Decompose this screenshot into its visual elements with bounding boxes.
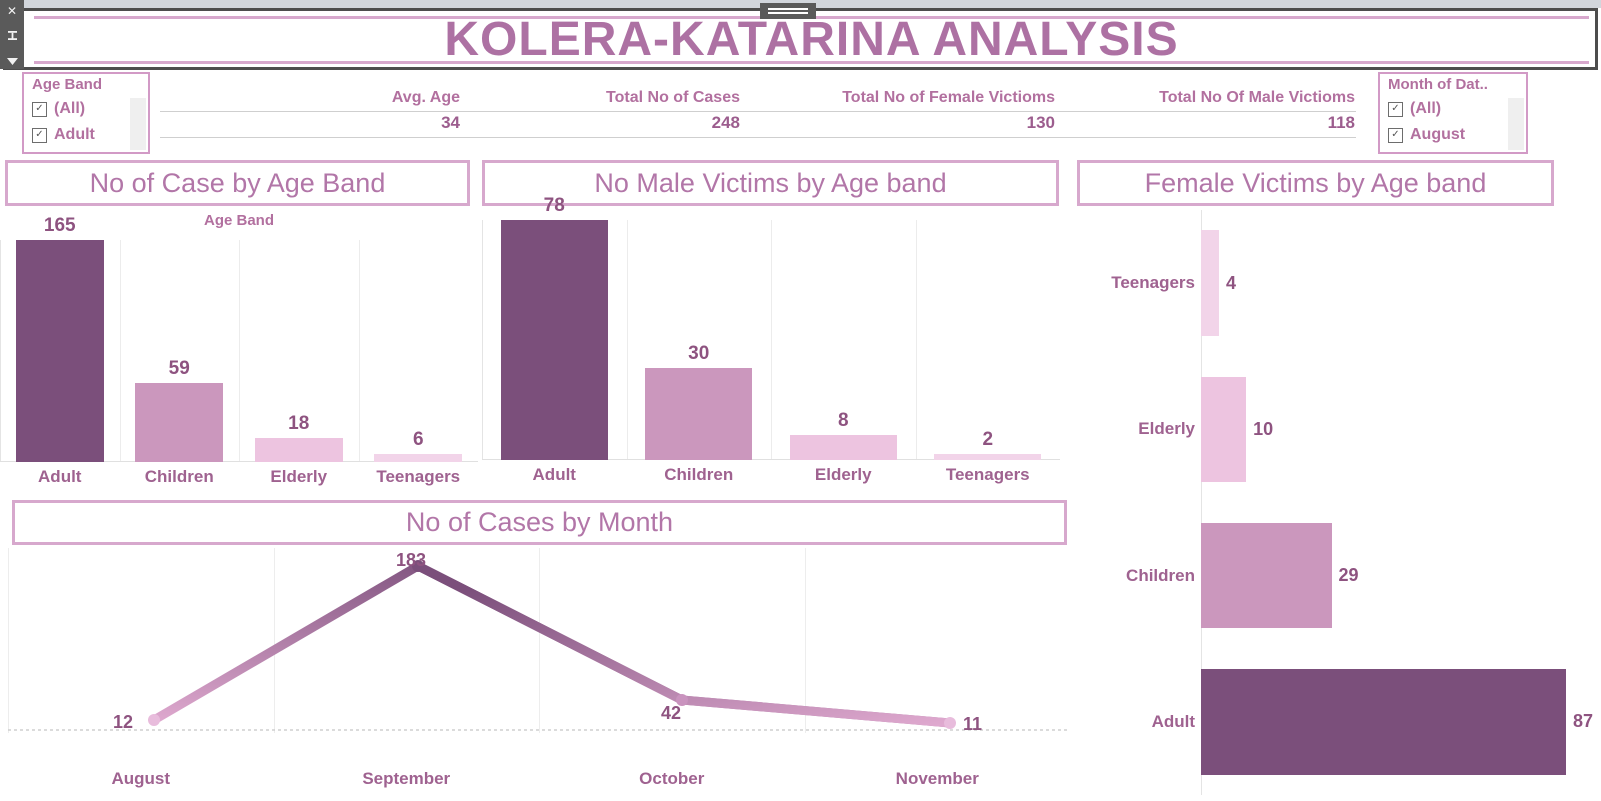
bar-row[interactable]: Children 29 (1088, 503, 1593, 649)
kpi-divider (160, 137, 1356, 138)
filter-option-label: August (1410, 126, 1465, 144)
chart-category-axis: Adult Children Elderly Teenagers (0, 464, 478, 490)
kpi-value: 130 (760, 110, 1055, 136)
kpi-value: 118 (1070, 110, 1355, 136)
bar-value-label: 30 (627, 343, 772, 365)
bar-value-label: 29 (1332, 565, 1359, 586)
data-point-november (944, 717, 956, 729)
axis-tick-label: Elderly (1088, 419, 1201, 439)
chart-female-victims-by-age-band: Teenagers 4 Elderly 10 Children 29 (1088, 210, 1593, 795)
axis-tick-label: Teenagers (1088, 273, 1201, 293)
bar-column[interactable]: 165 (0, 240, 120, 462)
panel-title-cases-by-month: No of Cases by Month (12, 500, 1067, 545)
line-series-svg (8, 548, 1070, 738)
bar-value-label: 87 (1566, 711, 1593, 732)
filter-month-title: Month of Dat.. (1380, 74, 1526, 96)
axis-tick-label: Teenagers (916, 462, 1061, 488)
chart-category-axis: August September October November (8, 765, 1070, 793)
bar-row[interactable]: Elderly 10 (1088, 356, 1593, 502)
filter-option-all[interactable]: ✓ (All) (1380, 96, 1526, 122)
point-value-label: 183 (396, 550, 426, 571)
bar-teenagers[interactable] (1201, 230, 1219, 335)
axis-tick-label: Children (627, 462, 772, 488)
point-value-label: 11 (963, 714, 982, 735)
bar-elderly[interactable] (255, 438, 343, 462)
filter-age-band[interactable]: Age Band ✓ (All) ✓ Adult (22, 72, 150, 154)
filter-age-band-title: Age Band (24, 74, 148, 96)
dashboard-root: ✕ KOLERA-KATARINA ANALYSIS Age Band ✓ (A… (0, 0, 1601, 801)
page-title: KOLERA-KATARINA ANALYSIS (444, 16, 1178, 64)
bar-value-label: 6 (359, 429, 479, 451)
bar-value-label: 59 (120, 358, 240, 380)
filter-scrollbar[interactable] (1508, 98, 1524, 150)
panel-title-text: No Male Victims by Age band (594, 170, 946, 197)
checkbox-icon[interactable]: ✓ (1388, 128, 1403, 143)
bar-value-label: 165 (0, 215, 120, 237)
kpi-label: Total No Of Male Victioms (1070, 86, 1355, 110)
kpi-label: Total No of Female Victioms (760, 86, 1055, 110)
axis-tick-label: October (539, 765, 805, 793)
checkbox-icon[interactable]: ✓ (1388, 102, 1403, 117)
caret-down-icon[interactable] (3, 53, 21, 69)
bar-teenagers[interactable] (374, 454, 462, 462)
bar-elderly[interactable] (1201, 377, 1246, 482)
kpi-avg-age: Avg. Age 34 (270, 86, 460, 136)
filter-scrollbar[interactable] (130, 98, 146, 150)
panel-title-cases-by-age: No of Case by Age Band (5, 160, 470, 206)
filter-option-label: (All) (1410, 100, 1441, 118)
chart-bars: 165 59 18 6 (0, 240, 478, 462)
kpi-total-male: Total No Of Male Victioms 118 (1070, 86, 1355, 136)
bar-column[interactable]: 30 (627, 220, 772, 460)
filter-option-label: Adult (54, 126, 95, 144)
axis-tick-label: Adult (1088, 712, 1201, 732)
axis-tick-label: Elderly (239, 464, 359, 490)
axis-tick-label: Children (120, 464, 240, 490)
bar-column[interactable]: 8 (771, 220, 916, 460)
kpi-value: 248 (500, 110, 740, 136)
bar-row[interactable]: Teenagers 4 (1088, 210, 1593, 356)
title-inner-frame: KOLERA-KATARINA ANALYSIS (34, 16, 1589, 64)
chart-cases-by-month: 12 183 42 11 August September October No… (8, 548, 1070, 793)
kpi-label: Avg. Age (270, 86, 460, 110)
bar-value-label: 8 (771, 410, 916, 432)
kpi-row: Avg. Age 34 Total No of Cases 248 Total … (160, 86, 1370, 144)
bar-value-label: 10 (1246, 419, 1273, 440)
data-point-august (148, 714, 160, 726)
chart-bars: 78 30 8 2 (482, 220, 1060, 460)
chart-cases-by-age-band: Age Band 165 59 18 6 (0, 212, 478, 490)
bar-column[interactable]: 2 (916, 220, 1061, 460)
chart-category-axis: Adult Children Elderly Teenagers (482, 462, 1060, 488)
kpi-label: Total No of Cases (500, 86, 740, 110)
axis-tick-label: Teenagers (359, 464, 479, 490)
bar-column[interactable]: 78 (482, 220, 627, 460)
bar-teenagers[interactable] (934, 454, 1041, 460)
panel-title-text: Female Victims by Age band (1145, 170, 1487, 197)
bar-value-label: 78 (482, 195, 627, 217)
drag-handle[interactable] (760, 3, 816, 19)
bar-row[interactable]: Adult 87 (1088, 649, 1593, 795)
kpi-value: 34 (270, 110, 460, 136)
chart-bars: Teenagers 4 Elderly 10 Children 29 (1088, 210, 1593, 795)
panel-title-female-by-age: Female Victims by Age band (1077, 160, 1554, 206)
filter-option-august[interactable]: ✓ August (1380, 122, 1526, 148)
bar-adult[interactable] (1201, 669, 1566, 774)
filter-option-label: (All) (54, 100, 85, 118)
bar-adult[interactable] (501, 220, 608, 460)
bar-value-label: 18 (239, 413, 359, 435)
axis-tick-label: Adult (0, 464, 120, 490)
kpi-total-female: Total No of Female Victioms 130 (760, 86, 1055, 136)
kpi-total-cases: Total No of Cases 248 (500, 86, 740, 136)
bar-column[interactable]: 18 (239, 240, 359, 462)
checkbox-icon[interactable]: ✓ (32, 102, 47, 117)
point-value-label: 42 (661, 703, 681, 724)
bar-column[interactable]: 6 (359, 240, 479, 462)
axis-tick-label: August (8, 765, 274, 793)
floating-toolbar[interactable]: ✕ (0, 0, 24, 69)
filter-month-of-date[interactable]: Month of Dat.. ✓ (All) ✓ August (1378, 72, 1528, 154)
axis-tick-label: Elderly (771, 462, 916, 488)
axis-tick-label: Children (1088, 566, 1201, 586)
point-value-label: 12 (113, 712, 133, 733)
bar-children[interactable] (1201, 523, 1332, 628)
bar-adult[interactable] (16, 240, 104, 462)
close-icon[interactable]: ✕ (3, 3, 21, 19)
chart-male-victims-by-age-band: 78 30 8 2 Adult Children Eld (482, 212, 1060, 488)
checkbox-icon[interactable]: ✓ (32, 128, 47, 143)
axis-tick-label: Adult (482, 462, 627, 488)
bar-value-label: 4 (1219, 273, 1236, 294)
bar-elderly[interactable] (790, 435, 897, 460)
axis-tick-label: September (274, 765, 540, 793)
line-path (154, 566, 950, 723)
pin-icon[interactable] (3, 28, 21, 44)
bar-value-label: 2 (916, 429, 1061, 451)
bar-column[interactable]: 59 (120, 240, 240, 462)
axis-tick-label: November (805, 765, 1071, 793)
bar-children[interactable] (645, 368, 752, 460)
bar-children[interactable] (135, 383, 223, 462)
panel-title-text: No of Case by Age Band (90, 170, 386, 197)
panel-title-text: No of Cases by Month (406, 509, 673, 536)
